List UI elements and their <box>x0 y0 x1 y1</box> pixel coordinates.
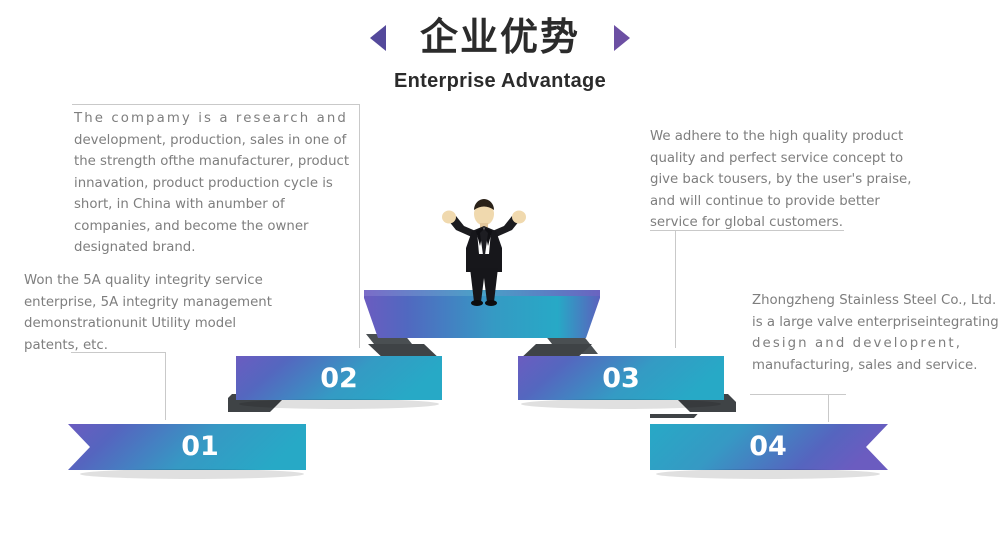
hand-left <box>442 211 456 224</box>
paragraph-company-intro: The compamy is a research and developmen… <box>74 108 360 259</box>
hand-right <box>512 211 526 224</box>
title-row: 企业优势 <box>0 18 1000 58</box>
paragraph-company-profile-line4: manufacturing, sales and service. <box>752 355 1000 377</box>
page-title: 企业优势 Enterprise Advantage <box>0 18 1000 93</box>
ribbon-02[interactable]: 02 <box>228 344 454 418</box>
connector-line-p1-top <box>72 104 360 105</box>
connector-line-p3-vertical <box>165 352 166 420</box>
ribbon-01-number: 01 <box>181 431 219 462</box>
trousers <box>470 268 498 302</box>
ribbon-03-number: 03 <box>602 363 640 394</box>
triangle-right-icon <box>614 25 630 51</box>
paragraph-company-profile-line2: is a large valve enterpriseintegrating <box>752 312 1000 334</box>
connector-line-p2-vertical <box>675 230 676 348</box>
slide-canvas: 企业优势 Enterprise Advantage The compamy is… <box>0 0 1000 548</box>
ribbon-04[interactable]: 04 <box>650 414 900 480</box>
paragraph-company-intro-rest: development, production, sales in one of… <box>74 130 360 259</box>
businessman-illustration <box>432 198 536 306</box>
connector-line-p4-bottom <box>750 394 846 395</box>
shoe-right <box>485 300 497 306</box>
ribbon-03[interactable]: 03 <box>510 344 736 418</box>
ribbon-01[interactable]: 01 <box>68 414 318 480</box>
paragraph-company-profile: Zhongzheng Stainless Steel Co., Ltd. is … <box>752 290 1000 376</box>
ribbon-02-number: 02 <box>320 363 358 394</box>
ribbon-04-number: 04 <box>749 431 787 462</box>
triangle-left-icon <box>370 25 386 51</box>
title-english: Enterprise Advantage <box>0 70 1000 93</box>
paragraph-company-profile-line1: Zhongzheng Stainless Steel Co., Ltd. <box>752 290 1000 312</box>
paragraph-quality-service: We adhere to the high quality product qu… <box>650 126 918 234</box>
title-chinese: 企业优势 <box>420 18 580 58</box>
paragraph-company-profile-line3: design and developrent, <box>752 333 1000 355</box>
paragraph-company-intro-line1: The compamy is a research and <box>74 108 360 130</box>
shoe-left <box>471 300 483 306</box>
ribbon-04-fold-top <box>650 414 712 418</box>
